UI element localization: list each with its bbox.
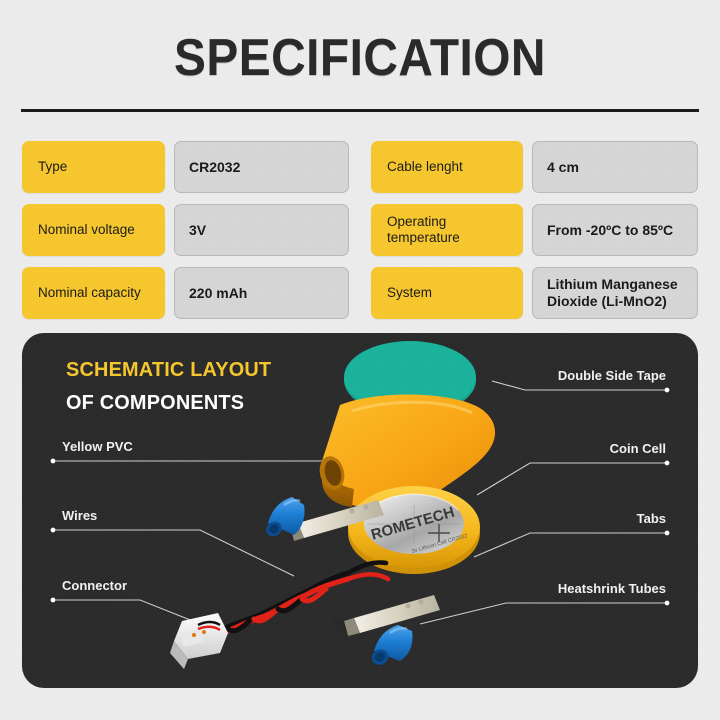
callout-label: Wires (62, 508, 97, 523)
connector-part (170, 613, 228, 669)
leader-dots-left (51, 459, 56, 603)
spec-value: 4 cm (532, 141, 698, 193)
callout-yellow-pvc: Yellow PVC (60, 421, 260, 461)
spec-label: Nominal voltage (22, 204, 165, 256)
spec-value: CR2032 (174, 141, 349, 193)
tab-part-lower (334, 595, 440, 636)
page-title: SPECIFICATION (29, 28, 691, 88)
heatshrink-tube-lower (369, 625, 413, 668)
spec-label: System (371, 267, 523, 319)
callout-coin-cell: Coin Cell (438, 423, 668, 463)
page-header: SPECIFICATION (0, 0, 720, 112)
spec-row: Cable lenght 4 cm (371, 141, 698, 193)
callout-label: Yellow PVC (62, 439, 133, 454)
spec-label: Type (22, 141, 165, 193)
spec-row: Nominal capacity 220 mAh (22, 267, 349, 319)
schematic-panel: SCHEMATIC LAYOUT OF COMPONENTS (22, 333, 698, 688)
callout-label: Connector (62, 578, 127, 593)
spec-value: 220 mAh (174, 267, 349, 319)
callout-label: Heatshrink Tubes (558, 581, 666, 596)
spec-row: System Lithium Manganese Dioxide (Li-MnO… (371, 267, 698, 319)
spec-label: Cable lenght (371, 141, 523, 193)
callout-wires: Wires (60, 490, 260, 530)
spec-column-left: Type CR2032 Nominal voltage 3V Nominal c… (22, 141, 349, 319)
callout-heatshrink-tubes: Heatshrink Tubes (438, 563, 668, 603)
spec-row: Type CR2032 (22, 141, 349, 193)
spec-value: Lithium Manganese Dioxide (Li-MnO2) (532, 267, 698, 319)
callout-tabs: Tabs (438, 493, 668, 533)
callout-connector: Connector (60, 560, 260, 600)
spec-row: Operating temperature From -20ºC to 85ºC (371, 204, 698, 256)
spec-value: 3V (174, 204, 349, 256)
spec-column-right: Cable lenght 4 cm Operating temperature … (371, 141, 698, 319)
callout-label: Coin Cell (610, 441, 666, 456)
spec-row: Nominal voltage 3V (22, 204, 349, 256)
spec-label: Operating temperature (371, 204, 523, 256)
callout-label: Double Side Tape (558, 368, 666, 383)
leader-lines-left (52, 453, 352, 631)
callout-label: Tabs (637, 511, 666, 526)
spec-value: From -20ºC to 85ºC (532, 204, 698, 256)
spec-label: Nominal capacity (22, 267, 165, 319)
specification-table: Type CR2032 Nominal voltage 3V Nominal c… (22, 141, 698, 319)
callout-double-side-tape: Double Side Tape (438, 350, 668, 390)
title-divider (21, 109, 699, 112)
